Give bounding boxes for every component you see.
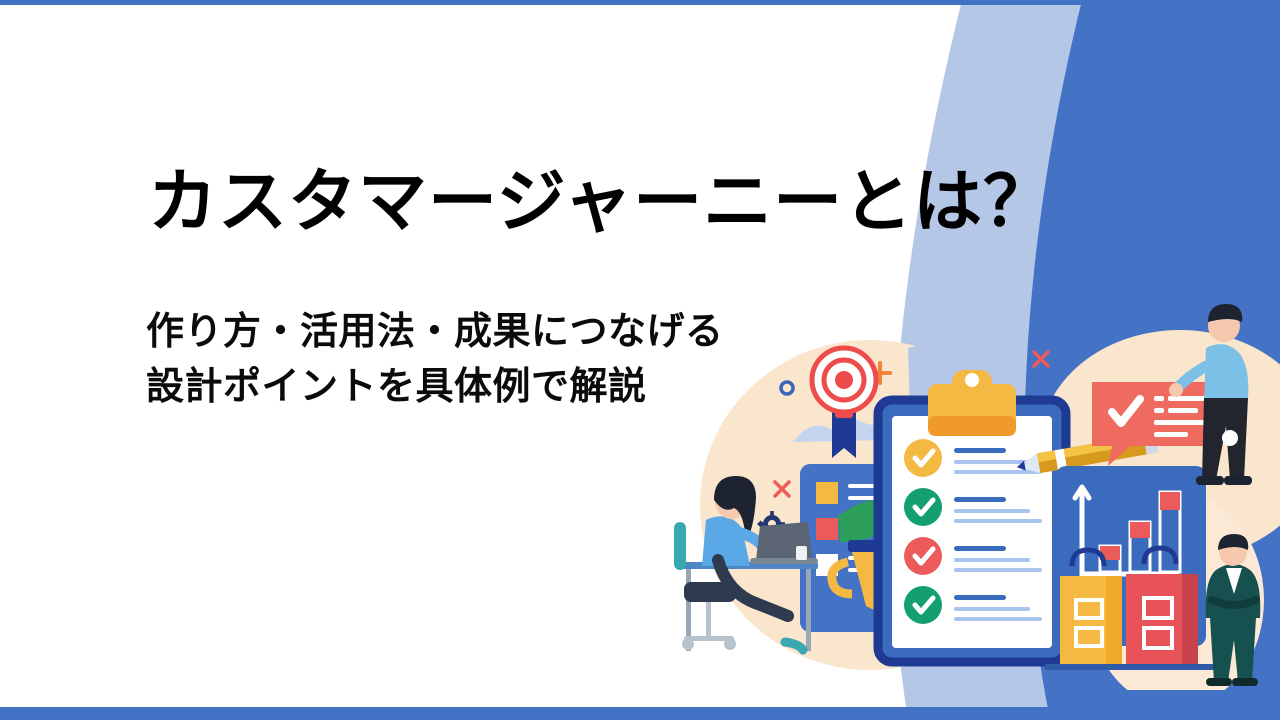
subtitle-line-2: 設計ポイントを具体例で解説 [146, 360, 724, 415]
page-subtitle: 作り方・活用法・成果につなげる 設計ポイントを具体例で解説 [146, 305, 724, 415]
decor-cross-red-b [1034, 352, 1048, 366]
top-accent-rule [0, 0, 1280, 5]
bottom-accent-rule [0, 707, 1280, 720]
subtitle-line-1: 作り方・活用法・成果につなげる [146, 305, 724, 360]
task-swatch-amber [816, 482, 838, 504]
slide-canvas: カスタマージャーニーとは？ 作り方・活用法・成果につなげる 設計ポイントを具体例… [0, 0, 1280, 720]
task-swatch-red [816, 518, 838, 540]
page-title: カスタマージャーニーとは？ [148, 166, 1053, 238]
checklist-clipboard [878, 370, 1066, 662]
